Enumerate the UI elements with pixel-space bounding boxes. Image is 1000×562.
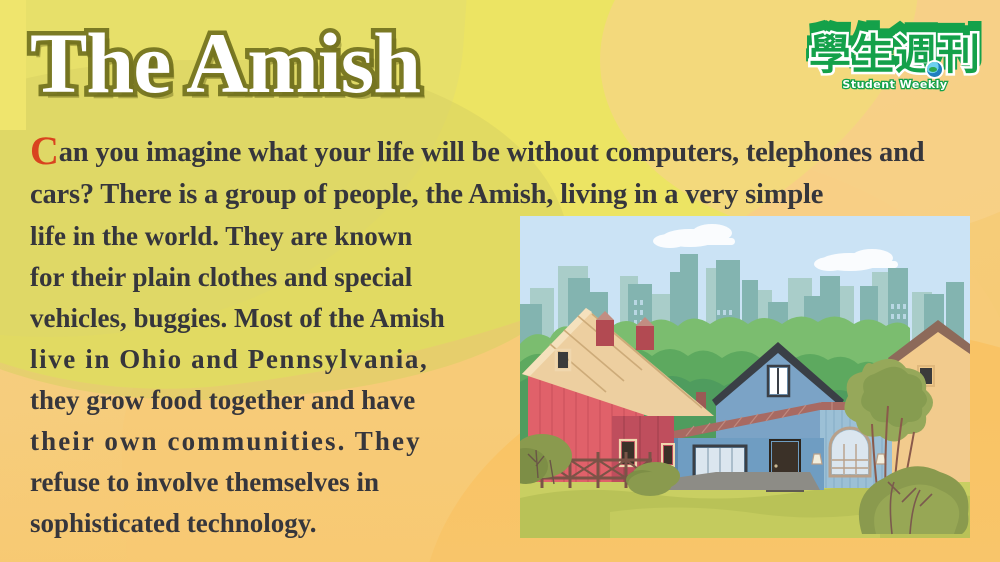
article-column-line: live in Ohio and Pennsylvania,: [30, 339, 500, 380]
masthead-logo: 學生週刊 學生週刊 Student Weekly: [804, 26, 986, 98]
article-column-line: vehicles, buggies. Most of the Amish: [30, 298, 500, 339]
article-dropcap: C: [30, 128, 59, 173]
bush-porch: [628, 472, 672, 496]
article-column-line: refuse to involve themselves in: [30, 462, 500, 503]
article-intro: Can you imagine what your life will be w…: [30, 132, 970, 216]
page-title: The Amish: [30, 20, 420, 106]
article-column: life in the world. They are known for th…: [30, 216, 500, 544]
background-left-strip: [0, 0, 26, 130]
article-column-line: they grow food together and have: [30, 380, 500, 421]
globe-icon: [927, 62, 942, 77]
poster-canvas: The Amish 學生週刊 學生週刊 Student Weekly Can y…: [0, 0, 1000, 562]
article-column-line: their own communities. They: [30, 421, 500, 462]
article-illustration: [520, 216, 970, 538]
article-intro-line-1: an you imagine what your life will be wi…: [59, 137, 872, 168]
article-column-line: sophisticated technology.: [30, 503, 500, 544]
logo-subtitle: Student Weekly: [842, 78, 947, 91]
article-column-line: life in the world. They are known: [30, 216, 500, 257]
article-column-line: for their plain clothes and special: [30, 257, 500, 298]
logo-characters: 學生週刊: [809, 34, 981, 76]
